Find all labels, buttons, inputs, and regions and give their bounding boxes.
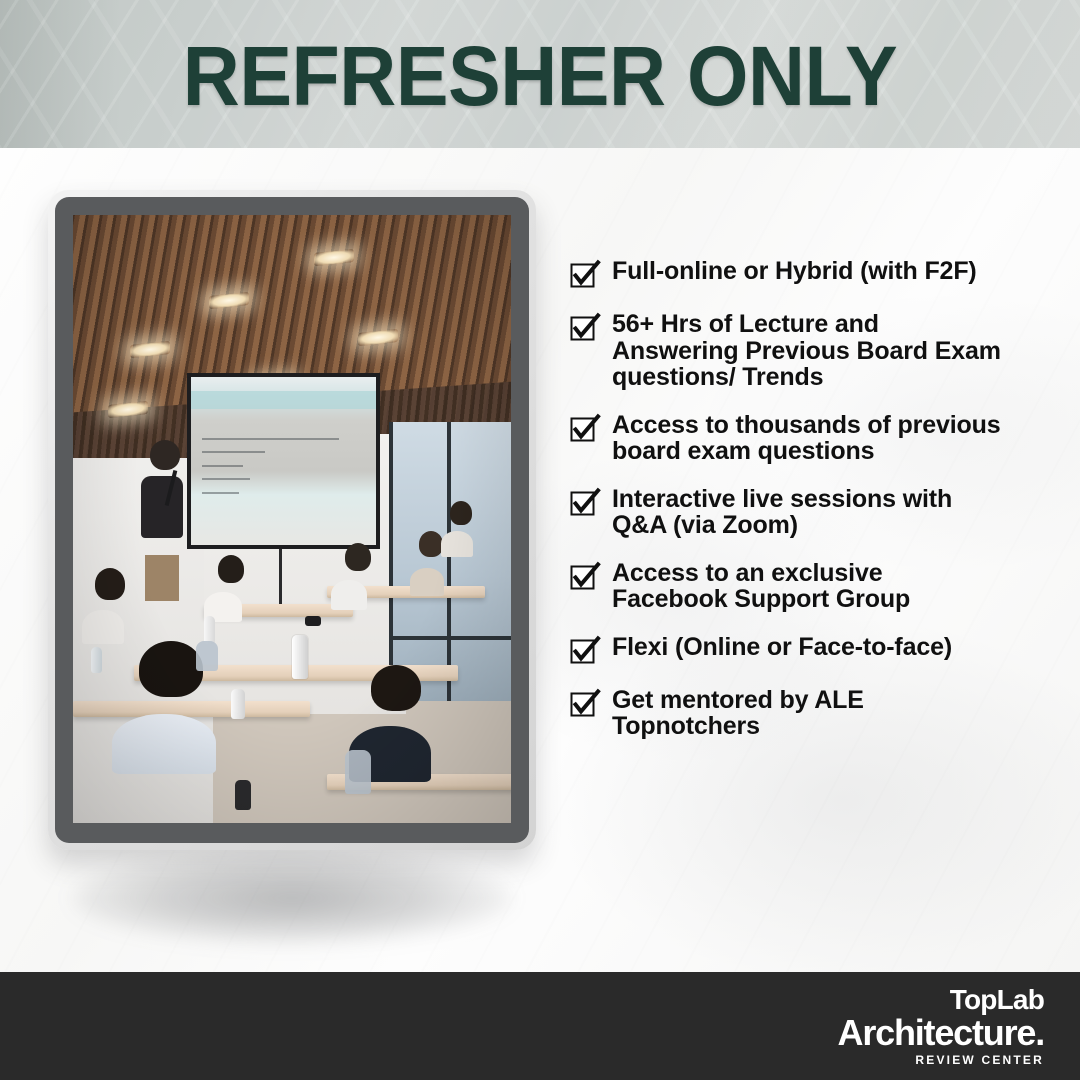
- list-item: 56+ Hrs of Lecture and Answering Previou…: [570, 311, 1070, 391]
- list-item-label: Full-online or Hybrid (with F2F): [612, 258, 977, 285]
- student-head: [419, 531, 443, 557]
- student-body: [112, 714, 216, 774]
- logo-main-text: Architecture.: [838, 1015, 1044, 1051]
- tumbler: [305, 616, 321, 626]
- tumbler: [292, 635, 308, 679]
- screen-stand: [279, 549, 282, 610]
- logo-sub-text: REVIEW CENTER: [838, 1054, 1044, 1066]
- brand-logo: TopLab Architecture. REVIEW CENTER: [838, 986, 1044, 1066]
- checkbox-checked-icon: [570, 260, 600, 290]
- photo-frame-inner: [55, 197, 529, 843]
- page-title: REFRESHER ONLY: [32, 0, 1047, 148]
- list-item: Full-online or Hybrid (with F2F): [570, 258, 1070, 290]
- classroom-photo: [73, 215, 511, 823]
- slide-header-bar: [191, 391, 376, 410]
- photo-drop-shadow: [72, 852, 512, 944]
- benefits-list: Full-online or Hybrid (with F2F) 56+ Hrs…: [570, 258, 1070, 740]
- slide-text-line: [202, 478, 250, 480]
- list-item-label: Access to thousands of previous board ex…: [612, 412, 1001, 465]
- student-body: [441, 531, 473, 557]
- classroom-table: [73, 701, 310, 717]
- list-item-label: Access to an exclusive Facebook Support …: [612, 560, 910, 613]
- tumbler: [235, 780, 251, 810]
- projector-screen: [187, 373, 380, 549]
- list-item-label: 56+ Hrs of Lecture and Answering Previou…: [612, 311, 1001, 391]
- slide-text-line: [202, 451, 265, 453]
- chair: [196, 641, 218, 671]
- chair: [345, 750, 371, 794]
- checkbox-checked-icon: [570, 689, 600, 719]
- slide-text-line: [202, 438, 339, 440]
- student-body: [331, 580, 367, 610]
- list-item: Interactive live sessions with Q&A (via …: [570, 486, 1070, 539]
- photo-frame: [48, 190, 536, 850]
- checkbox-checked-icon: [570, 488, 600, 518]
- checkbox-checked-icon: [570, 562, 600, 592]
- student-head: [345, 543, 371, 571]
- student-head: [95, 568, 125, 600]
- list-item-label: Get mentored by ALE Topnotchers: [612, 687, 864, 740]
- list-item-label: Flexi (Online or Face-to-face): [612, 634, 952, 661]
- checkbox-checked-icon: [570, 414, 600, 444]
- student-head: [371, 665, 421, 711]
- list-item-label: Interactive live sessions with Q&A (via …: [612, 486, 952, 539]
- presenter-legs: [145, 555, 179, 601]
- student-body: [82, 610, 124, 644]
- logo-top-text: TopLab: [838, 986, 1044, 1014]
- student-body: [410, 568, 444, 596]
- list-item: Access to an exclusive Facebook Support …: [570, 560, 1070, 613]
- footer-bar: TopLab Architecture. REVIEW CENTER: [0, 972, 1080, 1080]
- poster-canvas: REFRESHER ONLY: [0, 0, 1080, 1080]
- checkbox-checked-icon: [570, 313, 600, 343]
- list-item: Get mentored by ALE Topnotchers: [570, 687, 1070, 740]
- slide-text-line: [202, 492, 239, 494]
- presenter-head: [150, 440, 180, 470]
- window-wall: [389, 422, 511, 702]
- student-head: [450, 501, 472, 525]
- water-bottle: [231, 689, 245, 719]
- slide-text-line: [202, 465, 243, 467]
- water-bottle: [91, 647, 102, 673]
- presenter-body: [141, 476, 183, 538]
- student-head: [218, 555, 244, 583]
- list-item: Access to thousands of previous board ex…: [570, 412, 1070, 465]
- checkbox-checked-icon: [570, 636, 600, 666]
- list-item: Flexi (Online or Face-to-face): [570, 634, 1070, 666]
- student-head: [139, 641, 203, 697]
